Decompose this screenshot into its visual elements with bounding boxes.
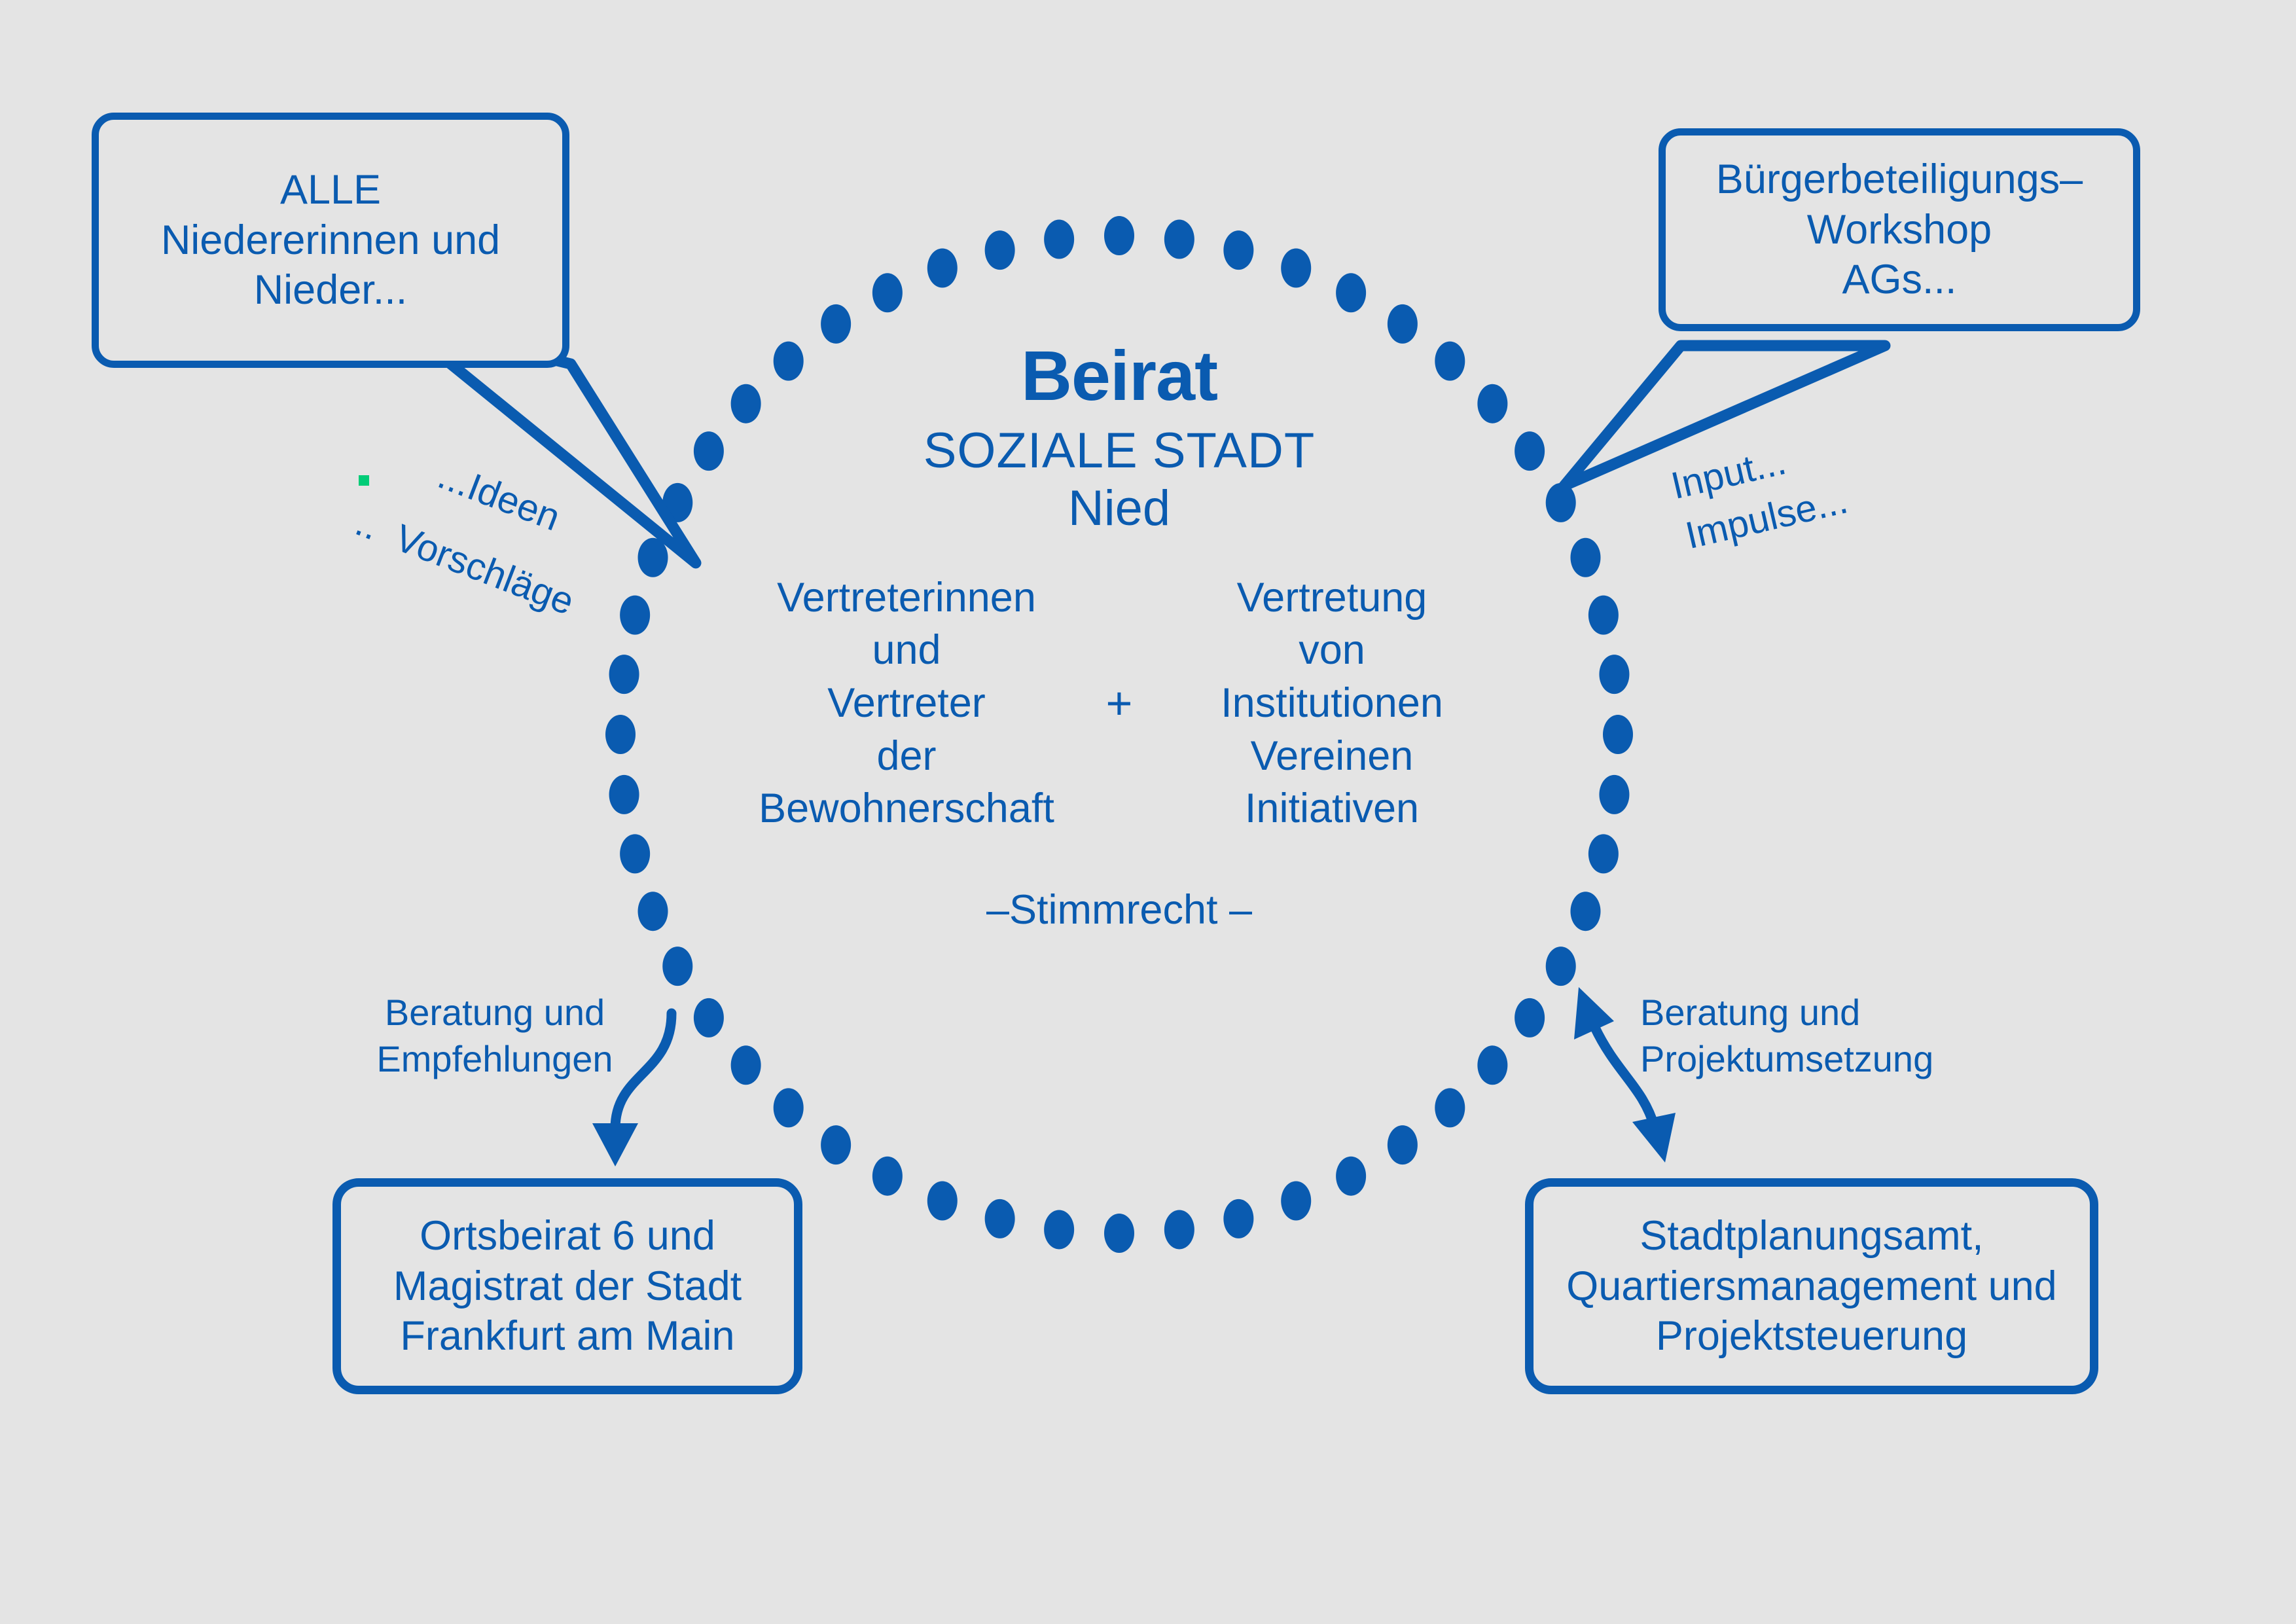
column-institutions-line-4: Vereinen	[1162, 730, 1502, 783]
column-institutions: Vertretung von Institutionen Vereinen In…	[1162, 571, 1502, 835]
circle-dot	[1435, 1088, 1465, 1127]
column-residents-line-4: der	[736, 730, 1077, 783]
annotation-beratung-projektumsetzung-line-2: Projektumsetzung	[1640, 1036, 1948, 1083]
circle-dot	[1599, 775, 1629, 814]
circle-dot	[872, 273, 903, 312]
voting-rights-note: –Stimmrecht –	[661, 886, 1577, 933]
circle-dot	[1104, 216, 1134, 255]
bubble-residents-line-3: Nieder...	[99, 265, 562, 316]
location-label: Nied	[661, 480, 1577, 536]
bubble-participation-line-2: Workshop	[1666, 205, 2133, 255]
box-ortsbeirat-line-2: Magistrat der Stadt	[393, 1263, 742, 1309]
column-institutions-line-5: Initiativen	[1162, 782, 1502, 835]
circle-dot	[774, 1088, 804, 1127]
circle-dot	[1388, 1125, 1418, 1164]
box-ortsbeirat-line-1: Ortsbeirat 6 und	[420, 1213, 715, 1259]
circle-dot	[1515, 998, 1545, 1038]
circle-dot	[872, 1157, 903, 1196]
circle-dot	[1546, 947, 1576, 986]
membership-columns: Vertreterinnen und Vertreter der Bewohne…	[661, 571, 1577, 835]
column-institutions-line-1: Vertretung	[1162, 571, 1502, 624]
column-residents: Vertreterinnen und Vertreter der Bewohne…	[736, 571, 1077, 835]
circle-dot	[1336, 273, 1366, 312]
circle-dot	[609, 655, 639, 694]
circle-dot	[1044, 1210, 1074, 1249]
diagram-canvas: ALLE Niedererinnen und Nieder... Bürgerb…	[0, 0, 2296, 1624]
circle-dot	[620, 596, 650, 635]
column-residents-line-5: Bewohnerschaft	[736, 782, 1077, 835]
speech-bubble-participation[interactable]: Bürgerbeteiligungs– Workshop AGs...	[1659, 128, 2140, 331]
column-institutions-line-3: Institutionen	[1162, 677, 1502, 730]
circle-dot	[821, 304, 851, 344]
circle-dot	[1336, 1157, 1366, 1196]
box-stadtplanungsamt[interactable]: Stadtplanungsamt, Quartiersmanagement un…	[1525, 1178, 2098, 1394]
circle-dot	[1477, 1045, 1507, 1085]
bubble-residents-line-2: Niedererinnen und	[99, 215, 562, 266]
circle-dot	[1104, 1214, 1134, 1253]
circle-dot	[609, 775, 639, 814]
circle-dot	[605, 715, 636, 754]
circle-dot	[1164, 220, 1194, 259]
plus-operator: +	[1077, 674, 1162, 733]
bubble-participation-line-1: Bürgerbeteiligungs–	[1666, 154, 2133, 205]
circle-dot	[1164, 1210, 1194, 1249]
annotation-beratung-projektumsetzung-line-1: Beratung und	[1640, 990, 1948, 1036]
circle-dot	[1223, 1199, 1253, 1238]
box-ortsbeirat[interactable]: Ortsbeirat 6 und Magistrat der Stadt Fra…	[332, 1178, 802, 1394]
green-accent-dot	[359, 475, 369, 486]
circle-dot	[620, 834, 650, 873]
circle-dot	[694, 998, 724, 1038]
circle-dot	[1281, 249, 1311, 288]
annotation-beratung-empfehlungen-line-1: Beratung und	[364, 990, 626, 1036]
bubble-residents-line-1: ALLE	[99, 165, 562, 215]
circle-dot	[1281, 1181, 1311, 1220]
box-stadtplanungsamt-line-1: Stadtplanungsamt,	[1640, 1213, 1983, 1259]
circle-dot	[662, 947, 692, 986]
box-stadtplanungsamt-line-2: Quartiersmanagement	[1566, 1263, 1977, 1309]
circle-dot	[1599, 655, 1629, 694]
column-residents-line-3: Vertreter	[736, 677, 1077, 730]
page-title: Beirat	[661, 340, 1577, 411]
circle-dot	[927, 249, 958, 288]
annotation-beratung-empfehlungen-line-2: Empfehlungen	[364, 1036, 626, 1083]
program-subtitle: SOZIALE STADT	[661, 422, 1577, 480]
annotation-beratung-projektumsetzung: Beratung und Projektumsetzung	[1640, 990, 1948, 1082]
column-residents-line-2: und	[736, 624, 1077, 677]
column-residents-line-1: Vertreterinnen	[736, 571, 1077, 624]
circle-dot	[1588, 834, 1619, 873]
circle-dot	[1588, 596, 1619, 635]
box-ortsbeirat-line-3: Frankfurt am Main	[400, 1313, 734, 1359]
circle-dot	[985, 230, 1015, 270]
circle-dot	[1603, 715, 1633, 754]
circle-dot	[821, 1125, 851, 1164]
column-institutions-line-2: von	[1162, 624, 1502, 677]
circle-dot	[985, 1199, 1015, 1238]
circle-dot	[1044, 220, 1074, 259]
circle-dot	[1223, 230, 1253, 270]
annotation-beratung-empfehlungen: Beratung und Empfehlungen	[364, 990, 626, 1082]
circle-dot	[731, 1045, 761, 1085]
speech-bubble-residents[interactable]: ALLE Niedererinnen und Nieder...	[92, 113, 569, 368]
circle-dot	[1388, 304, 1418, 344]
bubble-participation-line-3: AGs...	[1666, 255, 2133, 305]
circle-dot	[927, 1181, 958, 1220]
